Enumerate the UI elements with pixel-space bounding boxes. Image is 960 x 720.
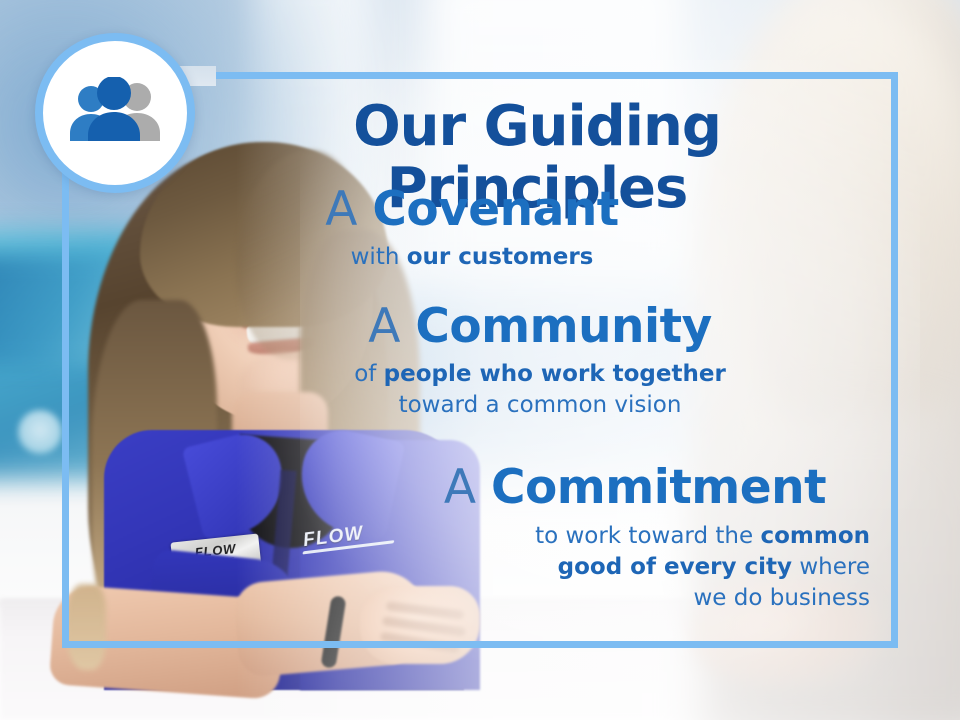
principle-covenant-sub-bold: our customers	[407, 244, 594, 270]
photo-showroom-emblem	[18, 410, 62, 454]
principle-community-sub-line-1: of people who work together	[300, 359, 780, 390]
principle-commitment-sub-bold-1: common	[760, 523, 870, 549]
people-group-icon	[61, 77, 169, 149]
principle-community-article: A	[368, 299, 400, 354]
principle-community: A Community of people who work together …	[300, 300, 780, 421]
principle-covenant: A Covenant with our customers	[260, 183, 684, 273]
principle-community-sub-bold: people who work together	[384, 361, 726, 387]
principle-community-sub-plain: of	[354, 361, 383, 387]
principle-commitment-subtext: to work toward the common good of every …	[400, 521, 870, 614]
principle-commitment-sub-bold-2: good of every city	[558, 554, 792, 580]
principle-commitment-keyword: Commitment	[491, 460, 826, 515]
principle-covenant-keyword: Covenant	[372, 182, 618, 237]
principle-commitment-heading: A Commitment	[400, 460, 870, 516]
principle-commitment-sub-line-3: we do business	[400, 583, 870, 614]
principle-commitment-sub-plain-2: where	[792, 554, 870, 580]
guiding-principles-graphic: FLOW FLOW AUTOMOTIVE	[0, 0, 960, 720]
photo-employee-hair-tip	[66, 584, 106, 670]
principle-commitment: A Commitment to work toward the common g…	[400, 460, 870, 614]
principle-covenant-subtext: with our customers	[260, 242, 684, 273]
principle-commitment-article: A	[444, 460, 476, 515]
people-group-icon-badge	[35, 33, 195, 193]
principle-covenant-heading: A Covenant	[260, 183, 684, 237]
principle-covenant-article: A	[325, 182, 357, 237]
principle-community-sub-line-2: toward a common vision	[300, 390, 780, 421]
principle-community-keyword: Community	[415, 299, 711, 354]
principle-community-heading: A Community	[300, 300, 780, 354]
principle-covenant-sub-plain: with	[351, 244, 407, 270]
principle-commitment-sub-plain-1: to work toward the	[535, 523, 760, 549]
principle-community-subtext: of people who work together toward a com…	[300, 359, 780, 421]
principle-commitment-sub-line-1: to work toward the common	[400, 521, 870, 552]
principle-commitment-sub-line-2: good of every city where	[400, 552, 870, 583]
